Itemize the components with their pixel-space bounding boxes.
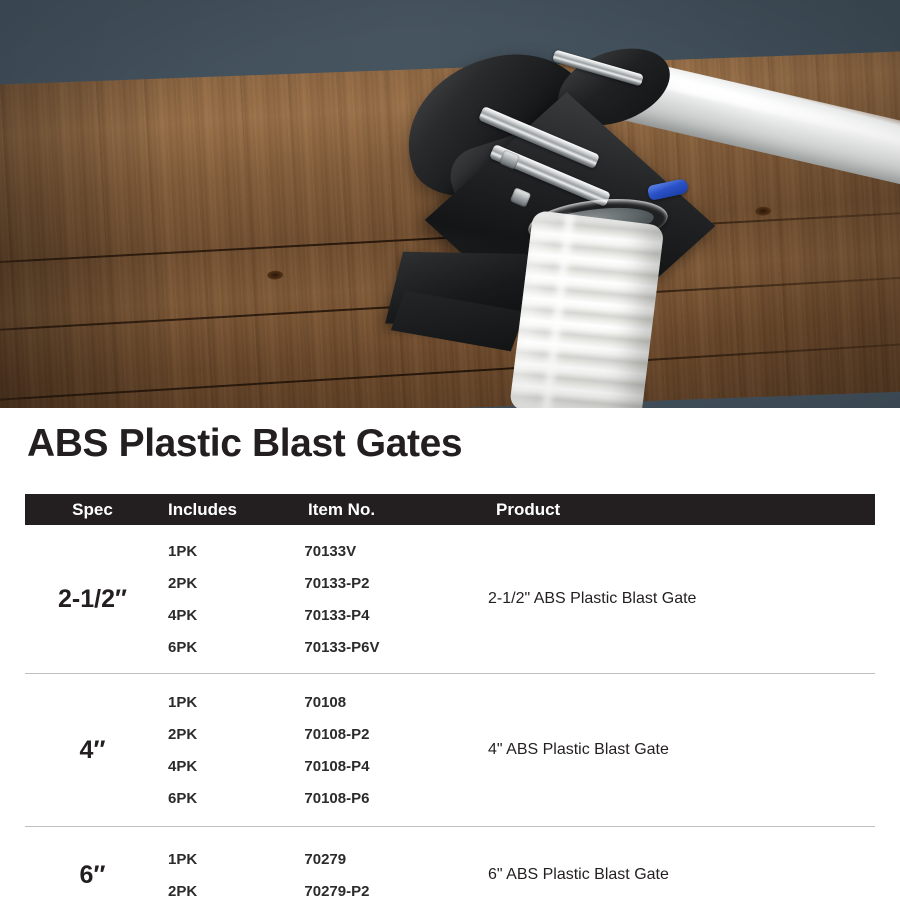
- wood-knot: [755, 206, 771, 216]
- cell-item-no: 70133-P6V: [304, 639, 470, 656]
- flexible-dust-hose: [509, 210, 664, 408]
- cell-product-name: 2-1/2" ABS Plastic Blast Gate: [470, 590, 875, 608]
- table-row: 6PK 70133-P6V: [160, 631, 470, 663]
- spec-group: 2-1/2″ 1PK 70133V 2PK 70133-P2 4PK 70133…: [25, 525, 875, 673]
- spec-group-rows: 1PK 70133V 2PK 70133-P2 4PK 70133-P4 6PK…: [160, 535, 470, 663]
- cell-includes: 2PK: [160, 883, 304, 900]
- table-row: 1PK 70108: [160, 686, 470, 718]
- product-spec-section: ABS Plastic Blast Gates Spec Includes It…: [0, 408, 900, 900]
- spec-table: Spec Includes Item No. Product 2-1/2″ 1P…: [25, 494, 875, 923]
- spec-group-rows: 1PK 70279 2PK 70279-P2: [160, 843, 470, 907]
- spec-size-label: 6″: [25, 861, 160, 890]
- table-row: 2PK 70279-P2: [160, 875, 470, 907]
- cell-item-no: 70133-P2: [304, 575, 470, 592]
- spec-size-label: 4″: [25, 736, 160, 765]
- spec-size-label: 2-1/2″: [25, 585, 160, 614]
- cell-item-no: 70108-P6: [304, 790, 470, 807]
- cell-item-no: 70108: [304, 694, 470, 711]
- cell-product-name: 4" ABS Plastic Blast Gate: [470, 741, 875, 759]
- cell-includes: 1PK: [160, 694, 304, 711]
- table-row: 6PK 70108-P6: [160, 782, 470, 814]
- column-header-item-no: Item No.: [308, 500, 478, 520]
- cell-includes: 1PK: [160, 851, 304, 868]
- spec-table-header-row: Spec Includes Item No. Product: [25, 494, 875, 525]
- cell-includes: 2PK: [160, 726, 304, 743]
- cell-includes: 2PK: [160, 575, 304, 592]
- cell-item-no: 70133-P4: [304, 607, 470, 624]
- wood-knot: [267, 270, 283, 280]
- column-header-spec: Spec: [25, 500, 160, 520]
- table-row: 1PK 70279: [160, 843, 470, 875]
- table-row: 1PK 70133V: [160, 535, 470, 567]
- column-header-includes: Includes: [160, 500, 308, 520]
- cell-includes: 4PK: [160, 758, 304, 775]
- spec-group: 4″ 1PK 70108 2PK 70108-P2 4PK 70108-P4 6…: [25, 673, 875, 826]
- table-row: 4PK 70133-P4: [160, 599, 470, 631]
- cell-item-no: 70108-P4: [304, 758, 470, 775]
- table-row: 2PK 70133-P2: [160, 567, 470, 599]
- hero-product-photo: [0, 0, 900, 408]
- spec-group: 6″ 1PK 70279 2PK 70279-P2 6" ABS Plastic…: [25, 826, 875, 923]
- cell-product-name: 6" ABS Plastic Blast Gate: [470, 866, 875, 884]
- cell-includes: 6PK: [160, 790, 304, 807]
- table-row: 4PK 70108-P4: [160, 750, 470, 782]
- cell-item-no: 70279-P2: [304, 883, 470, 900]
- cell-includes: 6PK: [160, 639, 304, 656]
- cell-includes: 1PK: [160, 543, 304, 560]
- wood-plank-seam: [0, 340, 900, 405]
- page-title: ABS Plastic Blast Gates: [27, 422, 462, 466]
- spec-group-rows: 1PK 70108 2PK 70108-P2 4PK 70108-P4 6PK …: [160, 686, 470, 814]
- table-row: 2PK 70108-P2: [160, 718, 470, 750]
- cell-includes: 4PK: [160, 607, 304, 624]
- cell-item-no: 70279: [304, 851, 470, 868]
- cell-item-no: 70108-P2: [304, 726, 470, 743]
- cell-item-no: 70133V: [304, 543, 470, 560]
- column-header-product: Product: [478, 500, 875, 520]
